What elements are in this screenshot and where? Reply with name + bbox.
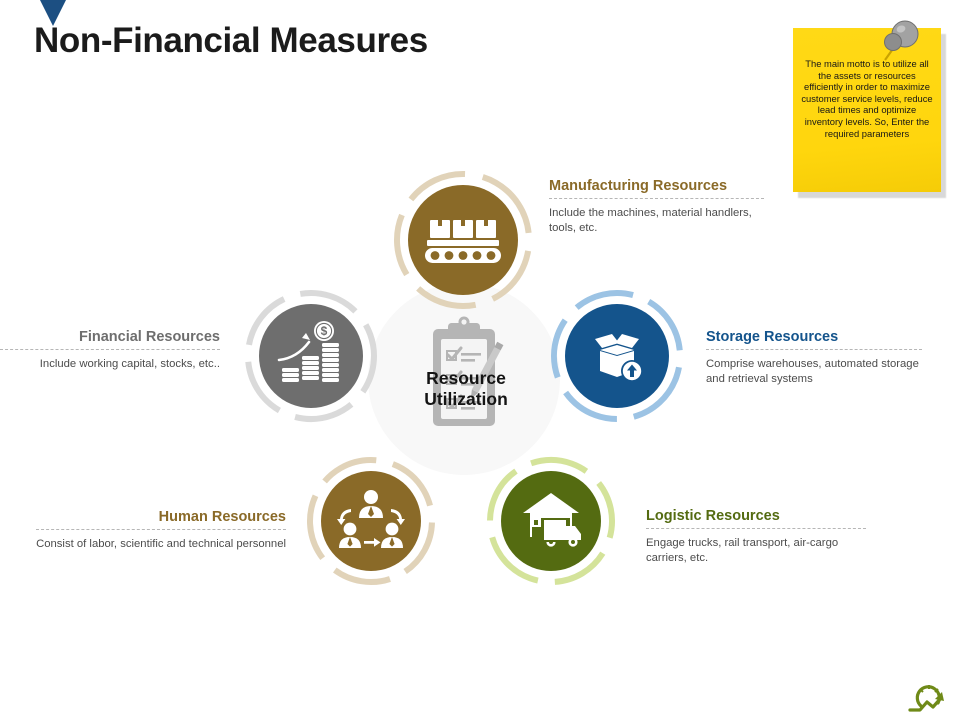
node-manufacturing bbox=[373, 166, 553, 330]
center-hub-label-line1: Resource bbox=[396, 368, 536, 389]
svg-text:$: $ bbox=[321, 324, 328, 338]
gauge-growth-logo-icon bbox=[908, 681, 948, 713]
section-body: Comprise warehouses, automated storage a… bbox=[706, 357, 922, 387]
section-divider bbox=[706, 349, 922, 350]
section-heading: Financial Resources bbox=[0, 328, 220, 346]
center-hub-label-line2: Utilization bbox=[396, 389, 536, 410]
node-financial: $ bbox=[244, 275, 392, 436]
page-title: Non-Financial Measures bbox=[34, 22, 428, 61]
center-hub-label: Resource Utilization bbox=[396, 368, 536, 410]
conveyor-belt-boxes-icon bbox=[425, 220, 501, 263]
section-financial[interactable]: Financial Resources Include working capi… bbox=[0, 328, 220, 372]
push-pin-icon bbox=[871, 16, 931, 72]
section-storage[interactable]: Storage Resources Comprise warehouses, a… bbox=[706, 328, 922, 387]
node-storage bbox=[536, 275, 694, 436]
section-divider bbox=[0, 349, 220, 350]
section-body: Include working capital, stocks, etc.. bbox=[0, 357, 220, 372]
sticky-note: The main motto is to utilize all the ass… bbox=[793, 28, 945, 198]
section-heading: Storage Resources bbox=[706, 328, 922, 346]
